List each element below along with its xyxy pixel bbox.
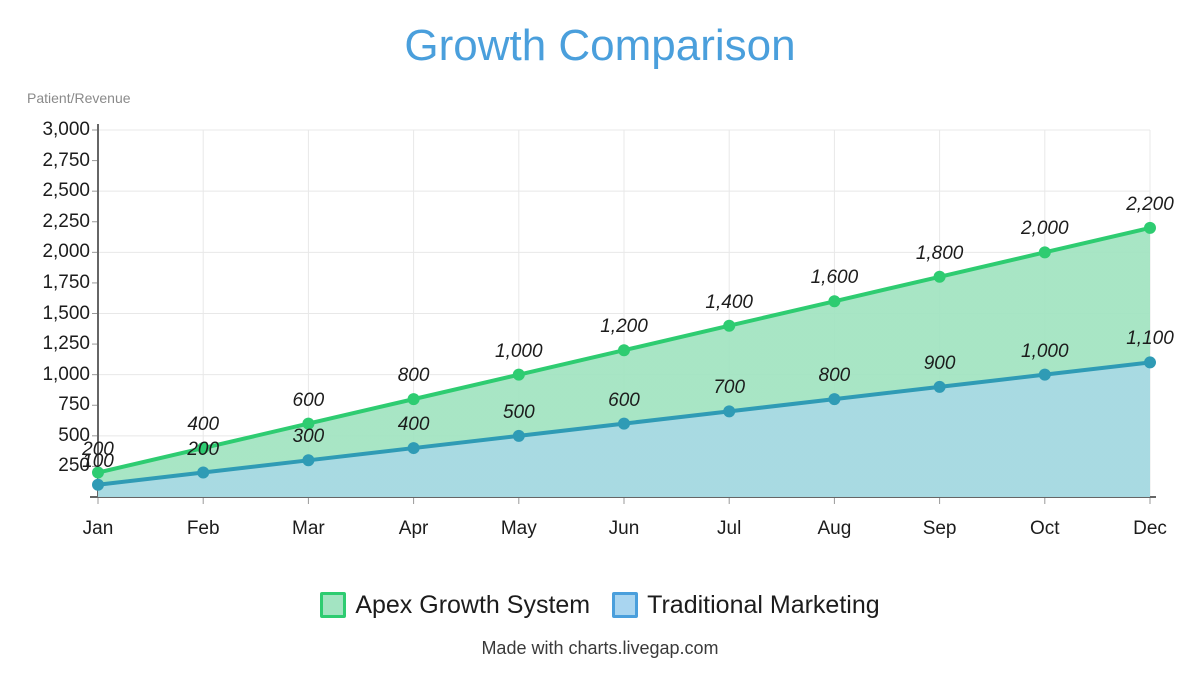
y-axis-tick-label: 2,250 xyxy=(2,211,90,233)
legend-swatch-icon xyxy=(320,592,346,618)
x-axis-tick-label: May xyxy=(501,518,537,540)
y-axis-tick-label: 3,000 xyxy=(2,119,90,141)
data-point-traditional-marketing[interactable] xyxy=(828,393,840,405)
x-axis-tick-label: Jul xyxy=(717,518,741,540)
data-point-label-traditional-marketing: 800 xyxy=(819,365,851,387)
data-point-label-apex-growth-system: 1,400 xyxy=(705,292,753,314)
data-point-traditional-marketing[interactable] xyxy=(302,454,314,466)
data-point-label-traditional-marketing: 500 xyxy=(503,402,535,424)
data-point-apex-growth-system[interactable] xyxy=(408,393,420,405)
data-point-apex-growth-system[interactable] xyxy=(513,369,525,381)
legend-label: Traditional Marketing xyxy=(647,593,880,618)
y-axis-tick-label: 250 xyxy=(2,455,90,477)
data-point-apex-growth-system[interactable] xyxy=(723,320,735,332)
data-point-traditional-marketing[interactable] xyxy=(1144,356,1156,368)
data-point-label-apex-growth-system: 1,800 xyxy=(916,243,964,265)
legend-swatch-icon xyxy=(612,592,638,618)
data-point-label-apex-growth-system: 1,200 xyxy=(600,316,648,338)
data-point-label-traditional-marketing: 700 xyxy=(713,377,745,399)
data-point-label-apex-growth-system: 2,000 xyxy=(1021,218,1069,240)
data-point-traditional-marketing[interactable] xyxy=(408,442,420,454)
data-point-label-traditional-marketing: 300 xyxy=(293,426,325,448)
data-point-apex-growth-system[interactable] xyxy=(1144,222,1156,234)
y-axis-tick-label: 2,000 xyxy=(2,241,90,263)
data-point-label-traditional-marketing: 600 xyxy=(608,390,640,412)
data-point-apex-growth-system[interactable] xyxy=(1039,246,1051,258)
y-axis-tick-label: 1,500 xyxy=(2,303,90,325)
data-point-label-apex-growth-system: 1,600 xyxy=(811,267,859,289)
data-point-label-apex-growth-system: 800 xyxy=(398,365,430,387)
chart-legend: Apex Growth SystemTraditional Marketing xyxy=(0,592,1200,618)
y-axis-tick-labels: 3,0002,7502,5002,2502,0001,7501,5001,250… xyxy=(0,0,90,685)
data-point-traditional-marketing[interactable] xyxy=(934,381,946,393)
data-point-traditional-marketing[interactable] xyxy=(723,405,735,417)
data-point-label-traditional-marketing: 1,000 xyxy=(1021,341,1069,363)
data-point-label-traditional-marketing: 200 xyxy=(187,439,219,461)
data-point-apex-growth-system[interactable] xyxy=(934,271,946,283)
data-point-label-apex-growth-system: 600 xyxy=(293,390,325,412)
y-axis-tick-label: 2,500 xyxy=(2,180,90,202)
x-axis-tick-label: Mar xyxy=(292,518,325,540)
data-point-apex-growth-system[interactable] xyxy=(618,344,630,356)
chart-credit: Made with charts.livegap.com xyxy=(0,638,1200,659)
legend-label: Apex Growth System xyxy=(355,593,590,618)
y-axis-tick-label: 1,000 xyxy=(2,364,90,386)
y-axis-tick-label: 1,250 xyxy=(2,333,90,355)
x-axis-tick-label: Apr xyxy=(399,518,429,540)
y-axis-tick-label: 2,750 xyxy=(2,150,90,172)
data-point-traditional-marketing[interactable] xyxy=(1039,369,1051,381)
x-axis-tick-label: Oct xyxy=(1030,518,1060,540)
y-axis-tick-label: 750 xyxy=(2,394,90,416)
x-axis-tick-label: Sep xyxy=(923,518,957,540)
x-axis-tick-label: Aug xyxy=(817,518,851,540)
data-point-traditional-marketing[interactable] xyxy=(92,479,104,491)
data-point-label-traditional-marketing: 1,100 xyxy=(1126,328,1174,350)
x-axis-tick-label: Dec xyxy=(1133,518,1167,540)
data-point-traditional-marketing[interactable] xyxy=(618,418,630,430)
y-axis-tick-label: 500 xyxy=(2,425,90,447)
x-axis-tick-label: Jan xyxy=(83,518,114,540)
x-axis-tick-label: Feb xyxy=(187,518,220,540)
plot-area xyxy=(0,0,1200,685)
data-point-traditional-marketing[interactable] xyxy=(197,467,209,479)
y-axis-tick-label: 1,750 xyxy=(2,272,90,294)
legend-item[interactable]: Apex Growth System xyxy=(320,592,590,618)
data-point-label-traditional-marketing: 900 xyxy=(924,353,956,375)
data-point-label-traditional-marketing: 400 xyxy=(398,414,430,436)
data-point-apex-growth-system[interactable] xyxy=(828,295,840,307)
data-point-label-apex-growth-system: 1,000 xyxy=(495,341,543,363)
x-axis-tick-label: Jun xyxy=(609,518,640,540)
data-point-label-apex-growth-system: 2,200 xyxy=(1126,194,1174,216)
legend-item[interactable]: Traditional Marketing xyxy=(612,592,880,618)
data-point-label-apex-growth-system: 400 xyxy=(187,414,219,436)
data-point-traditional-marketing[interactable] xyxy=(513,430,525,442)
data-point-label-traditional-marketing: 100 xyxy=(82,451,114,473)
chart-container: Growth Comparison Patient/Revenue 3,0002… xyxy=(0,0,1200,685)
